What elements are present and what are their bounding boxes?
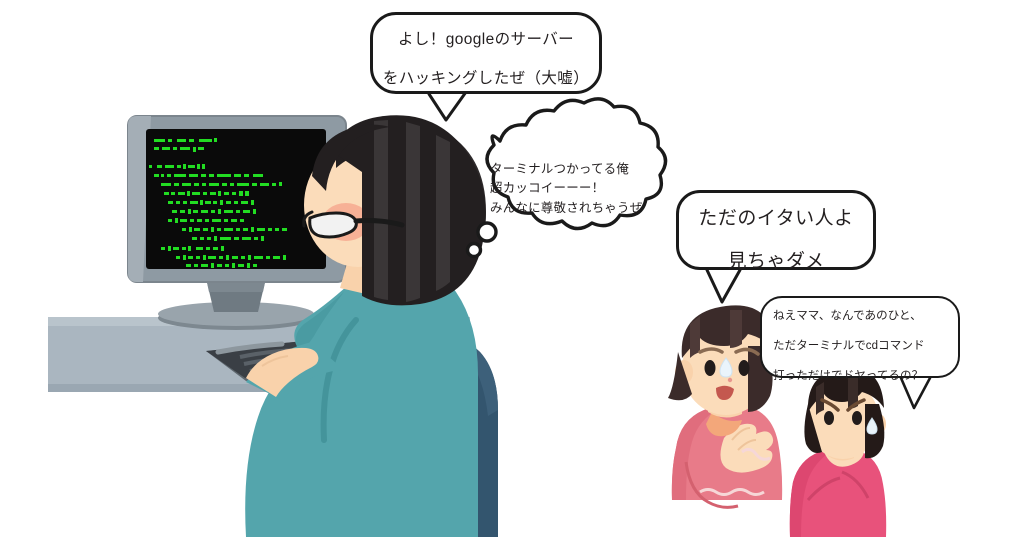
mother-speech-line-2: 見ちゃダメ (676, 233, 876, 276)
child-speech-bubble: ねえママ、なんであのひと、 ただターミナルでcdコマンド 打っただけでドヤってる… (760, 296, 960, 378)
man-thought-bubble: ターミナルつかってる俺 超カッコイーーー！ みんなに尊敬されちゃうぜ (466, 133, 672, 245)
man-thought-line-1: ターミナルつかってる俺 (490, 133, 672, 179)
man-speech-bubble: よし！googleのサーバー をハッキングしたぜ（大嘘） (370, 12, 602, 94)
child-speech-line-1: ねえママ、なんであのひと、 (773, 296, 960, 326)
child (790, 368, 886, 537)
child-speech-line-2: ただターミナルでcdコマンド (773, 326, 960, 356)
man-thought-line-3: みんなに尊敬されちゃうぜ (490, 199, 672, 218)
mother-speech-bubble: ただのイタい人よ 見ちゃダメ (676, 190, 876, 270)
child-speech-line-3: 打っただけでドヤってるの？ (773, 356, 960, 386)
man-thought-line-2: 超カッコイーーー！ (490, 179, 672, 198)
mother-speech-line-1: ただのイタい人よ (676, 190, 876, 233)
man-speech-line-1: よし！googleのサーバー (370, 12, 602, 51)
illustration-scene: よし！googleのサーバー をハッキングしたぜ（大嘘） ターミナルつかってる俺… (0, 0, 1026, 537)
man-speech-line-2: をハッキングしたぜ（大嘘） (370, 51, 602, 90)
